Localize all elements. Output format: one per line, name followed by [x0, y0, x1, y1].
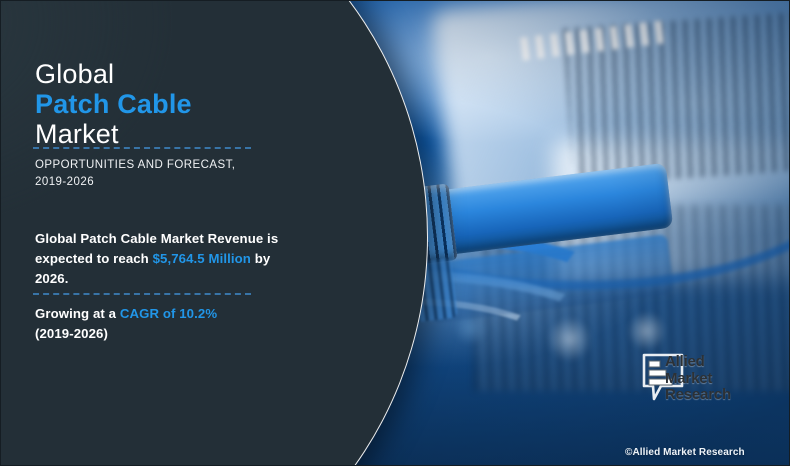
- allied-market-research-logo: Allied Market Research: [641, 353, 779, 409]
- cagr-lead: Growing at a: [35, 306, 120, 321]
- logo-wordmark: Allied Market Research: [665, 354, 731, 404]
- cagr-value: CAGR of 10.2%: [120, 306, 217, 321]
- headline-line-2-accent: Patch Cable: [35, 89, 285, 119]
- divider-bottom: [33, 293, 251, 295]
- content-layer: Global Patch Cable Market OPPORTUNITIES …: [1, 1, 301, 466]
- revenue-value: $5,764.5 Million: [153, 251, 251, 266]
- logo-line-market: Market: [665, 371, 731, 388]
- page-title: Global Patch Cable Market: [35, 59, 285, 149]
- subtitle: OPPORTUNITIES AND FORECAST, 2019-2026: [35, 157, 265, 191]
- infographic-root: Global Patch Cable Market OPPORTUNITIES …: [0, 0, 790, 466]
- revenue-statement: Global Patch Cable Market Revenue is exp…: [35, 229, 280, 289]
- copyright-notice: ©Allied Market Research: [625, 447, 785, 458]
- headline-line-1: Global: [35, 59, 285, 89]
- logo-line-research: Research: [665, 387, 731, 404]
- divider-top: [33, 147, 251, 149]
- headline-line-3: Market: [35, 119, 285, 149]
- cagr-period: (2019-2026): [35, 326, 108, 341]
- cagr-statement: Growing at a CAGR of 10.2% (2019-2026): [35, 304, 285, 344]
- logo-line-allied: Allied: [665, 354, 731, 371]
